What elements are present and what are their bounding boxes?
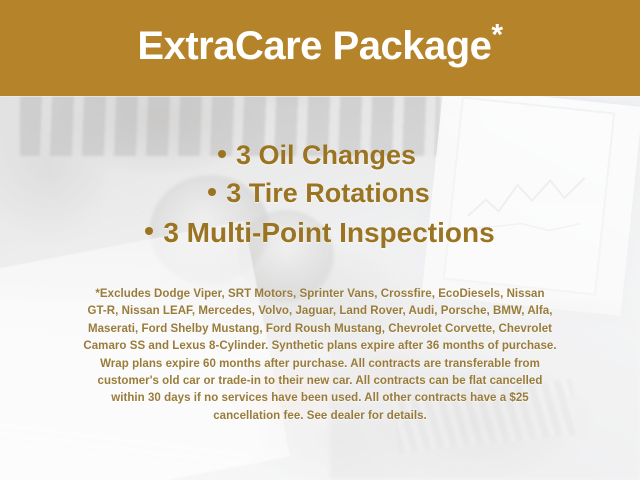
bullet-dot-icon (145, 227, 153, 235)
page-title: ExtraCare Package* (137, 26, 502, 70)
page-title-text: ExtraCare Package (137, 24, 491, 68)
disclaimer-text: *Excludes Dodge Viper, SRT Motors, Sprin… (28, 286, 612, 425)
disclaimer-line: cancellation fee. See dealer for details… (28, 408, 612, 425)
disclaimer-line: *Excludes Dodge Viper, SRT Motors, Sprin… (28, 286, 612, 303)
bullet-dot-icon (218, 150, 226, 158)
list-item: 3 Tire Rotations (0, 174, 640, 212)
page-title-asterisk: * (491, 19, 502, 52)
list-item: 3 Oil Changes (0, 136, 640, 174)
bullet-dot-icon (208, 188, 216, 196)
benefit-label: 3 Oil Changes (236, 140, 416, 170)
benefits-list: 3 Oil Changes 3 Tire Rotations 3 Multi-P… (0, 136, 640, 252)
extracare-package-poster: ExtraCare Package* 3 Oil Changes 3 Tire … (0, 0, 640, 480)
disclaimer-line: Wrap plans expire 60 months after purcha… (28, 356, 612, 373)
disclaimer-line: Camaro SS and Lexus 8-Cylinder. Syntheti… (28, 338, 612, 355)
disclaimer-line: customer's old car or trade-in to their … (28, 373, 612, 390)
benefit-label: 3 Multi-Point Inspections (163, 217, 494, 248)
disclaimer-line: GT-R, Nissan LEAF, Mercedes, Volvo, Jagu… (28, 303, 612, 320)
benefit-label: 3 Tire Rotations (226, 178, 430, 208)
disclaimer-line: within 30 days if no services have been … (28, 390, 612, 407)
disclaimer-line: Maserati, Ford Shelby Mustang, Ford Rous… (28, 321, 612, 338)
header-bar: ExtraCare Package* (0, 0, 640, 96)
list-item: 3 Multi-Point Inspections (0, 213, 640, 253)
